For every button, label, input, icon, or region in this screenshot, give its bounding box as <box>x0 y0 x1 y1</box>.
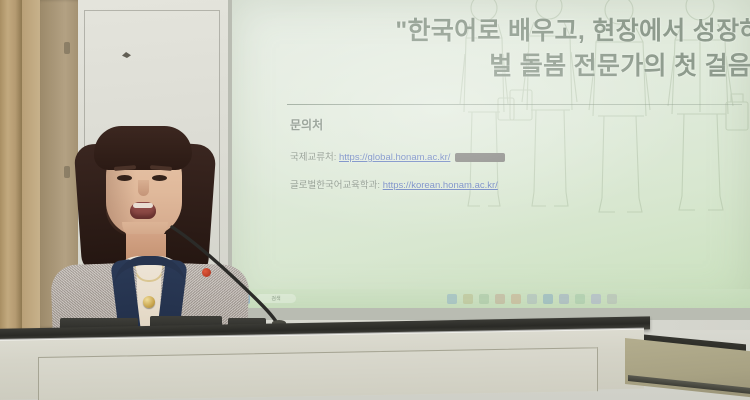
slide-taskbar: 검색 <box>232 289 750 308</box>
nose <box>138 180 149 196</box>
folder-icon[interactable] <box>527 294 537 304</box>
contact-label-1: 국제교류처: <box>290 152 336 163</box>
excel-icon[interactable] <box>575 294 585 304</box>
window-icon[interactable] <box>607 294 617 304</box>
presentation-photo: 단 체 사 진 <box>0 0 750 400</box>
slide-divider <box>287 104 742 105</box>
contact-heading: 문의처 <box>290 116 323 133</box>
door-hinge-top <box>64 42 70 54</box>
eye-left <box>117 175 132 181</box>
contact-link-1[interactable]: https://global.honam.ac.kr/ <box>339 152 450 163</box>
word-icon[interactable] <box>543 294 553 304</box>
projected-slide: "한국어로 배우고, 현장에서 성장하는 벌 돌봄 전문가의 첫 걸음!" 문의… <box>232 0 750 308</box>
podium-front-panel <box>38 347 598 400</box>
contact-link-2[interactable]: https://korean.honam.ac.kr/ <box>383 180 498 191</box>
kakao-icon[interactable] <box>591 294 601 304</box>
chrome-icon[interactable] <box>479 294 489 304</box>
hwp-icon[interactable] <box>495 294 505 304</box>
slide-title-line-2: 벌 돌봄 전문가의 첫 걸음!" <box>260 49 750 84</box>
eye-right <box>152 175 167 181</box>
file-explorer-icon[interactable] <box>463 294 473 304</box>
jacket-button-top <box>143 296 155 308</box>
taskbar-icon-group <box>447 294 617 304</box>
edge-icon[interactable] <box>447 294 457 304</box>
teeth <box>133 203 153 208</box>
door-jamb <box>0 0 22 335</box>
contact-row-1: 국제교류처: https://global.honam.ac.kr/ <box>290 149 505 163</box>
contact-row-2: 글로벌한국어교육학과: https://korean.honam.ac.kr/ <box>290 177 498 191</box>
link-tooltip-box <box>455 153 505 162</box>
contact-label-2: 글로벌한국어교육학과: <box>290 180 380 191</box>
hair-bangs <box>94 126 192 170</box>
slide-title: "한국어로 배우고, 현장에서 성장하는 벌 돌봄 전문가의 첫 걸음!" <box>260 14 750 83</box>
teams-icon[interactable] <box>559 294 569 304</box>
powerpoint-icon[interactable] <box>511 294 521 304</box>
slide-title-line-1: "한국어로 배우고, 현장에서 성장하는 <box>260 14 750 49</box>
